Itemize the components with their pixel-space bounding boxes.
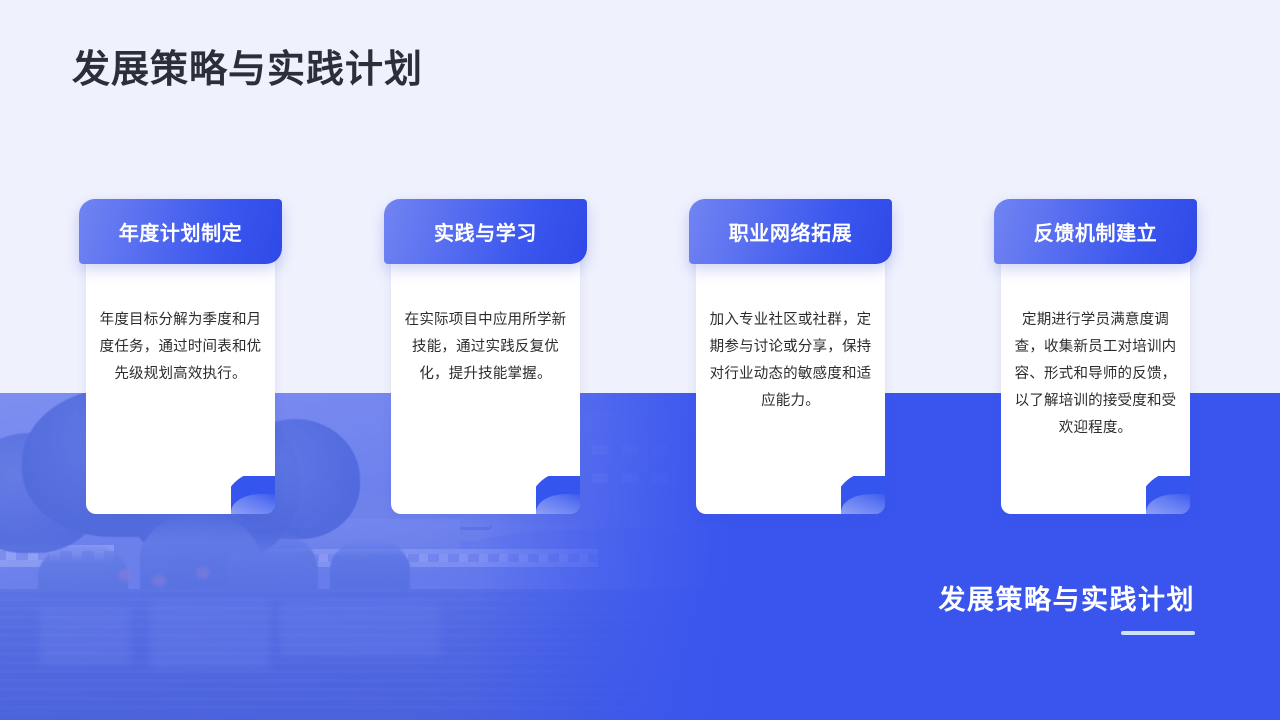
page-title: 发展策略与实践计划 (72, 48, 423, 94)
folded-corner-icon (1146, 476, 1190, 514)
folded-corner-icon (536, 476, 580, 514)
card-title: 年度计划制定 (119, 217, 243, 246)
card-description: 加入专业社区或社群，定期参与讨论或分享，保持对行业动态的敏感度和适应能力。 (708, 307, 873, 415)
card-header-badge[interactable]: 年度计划制定 (79, 199, 282, 264)
card-description: 年度目标分解为季度和月度任务，通过时间表和优先级规划高效执行。 (98, 307, 263, 388)
card-description: 定期进行学员满意度调查，收集新员工对培训内容、形式和导师的反馈，以了解培训的接受… (1013, 307, 1178, 442)
card-description: 在实际项目中应用所学新技能，通过实践反复优化，提升技能掌握。 (403, 307, 568, 388)
card-header-badge[interactable]: 职业网络拓展 (689, 199, 892, 264)
card-title: 实践与学习 (434, 217, 537, 246)
footer-underline-rule (1121, 631, 1195, 635)
card-header-badge[interactable]: 实践与学习 (384, 199, 587, 264)
card-title: 职业网络拓展 (729, 217, 853, 246)
card-annual-plan[interactable]: 年度目标分解为季度和月度任务，通过时间表和优先级规划高效执行。 年度计划制定 (79, 196, 282, 514)
slide-root: 发展策略与实践计划 年度目标分解为季度和月度任务，通过时间表和优先级规划高效执行… (0, 0, 1280, 720)
card-row: 年度目标分解为季度和月度任务，通过时间表和优先级规划高效执行。 年度计划制定 在… (0, 196, 1280, 526)
folded-corner-icon (231, 476, 275, 514)
card-career-network[interactable]: 加入专业社区或社群，定期参与讨论或分享，保持对行业动态的敏感度和适应能力。 职业… (689, 196, 892, 514)
card-feedback-mechanism[interactable]: 定期进行学员满意度调查，收集新员工对培训内容、形式和导师的反馈，以了解培训的接受… (994, 196, 1197, 514)
footer-title: 发展策略与实践计划 (939, 578, 1196, 617)
card-title: 反馈机制建立 (1034, 217, 1158, 246)
card-header-badge[interactable]: 反馈机制建立 (994, 199, 1197, 264)
folded-corner-icon (841, 476, 885, 514)
card-practice-learning[interactable]: 在实际项目中应用所学新技能，通过实践反复优化，提升技能掌握。 实践与学习 (384, 196, 587, 514)
footer-brand: 发展策略与实践计划 (939, 578, 1196, 635)
